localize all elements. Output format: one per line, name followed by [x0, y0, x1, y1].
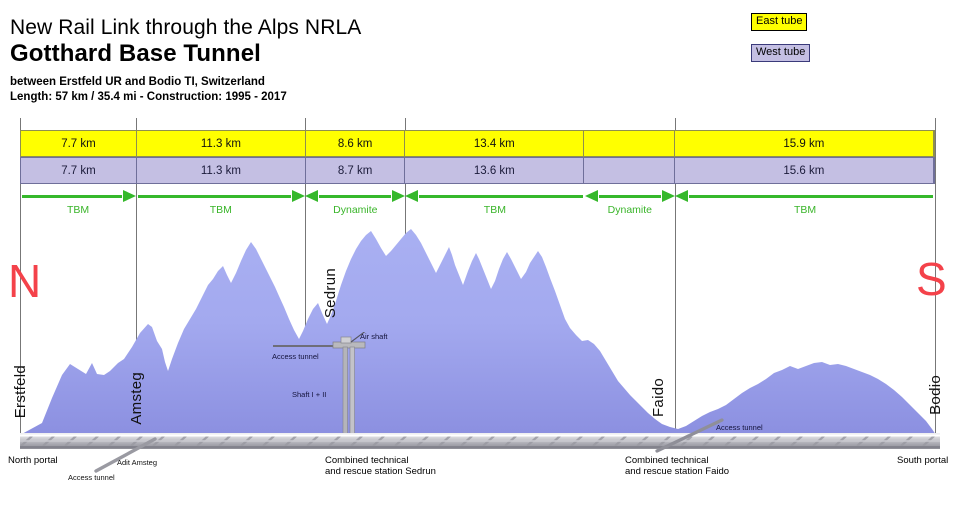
method-segment-2: TBM [136, 185, 305, 223]
north-portal-label: North portal [8, 455, 58, 466]
shaft-ii [350, 347, 355, 435]
method-label-3: Dynamite [305, 204, 405, 216]
direction-arrow-both-icon [305, 189, 405, 203]
page-title: New Rail Link through the Alps NRLA [10, 16, 361, 40]
east-tube-segment-2: 11.3 km [137, 131, 306, 156]
compass-north: N [8, 258, 41, 304]
arrow-shaft [138, 195, 291, 198]
method-segment-5: Dynamite [585, 185, 676, 223]
direction-arrow-left-icon [675, 189, 935, 203]
method-label-4: TBM [405, 204, 584, 216]
east-tube-segment-4: 13.4 km [405, 131, 584, 156]
page-subtitle: Gotthard Base Tunnel [10, 40, 261, 68]
air-shaft-label: Air shaft [360, 332, 388, 341]
arrowhead-left-icon [675, 190, 688, 202]
compass-south: S [916, 256, 947, 302]
sedrun-headhouse-top [341, 337, 351, 343]
west-tube-segment-5 [584, 158, 674, 183]
arrowhead-left-icon [305, 190, 318, 202]
arrowhead-left-icon [405, 190, 418, 202]
east-tube-bar: 7.7 km11.3 km8.6 km13.4 km15.9 km [20, 130, 935, 157]
shaft-i-ii-label: Shaft I + II [292, 390, 326, 399]
east-tube-segment-3: 8.6 km [306, 131, 406, 156]
faido-access-tunnel-label: Access tunnel [716, 423, 763, 432]
direction-arrow-left-icon [405, 189, 584, 203]
east-tube-segment-5 [584, 131, 674, 156]
station-faido-line2: and rescue station Faido [625, 466, 729, 477]
arrowhead-right-icon [392, 190, 405, 202]
meta-location: between Erstfeld UR and Bodio TI, Switze… [10, 76, 265, 88]
station-sedrun-line2: and rescue station Sedrun [325, 466, 436, 477]
place-label-bodio: Bodio [927, 375, 944, 415]
diagram-canvas: New Rail Link through the Alps NRLA Gott… [0, 0, 960, 516]
east-tube-segment-1: 7.7 km [21, 131, 137, 156]
place-label-amsteg: Amsteg [128, 372, 145, 425]
station-sedrun-line1: Combined technical [325, 455, 408, 466]
arrowhead-right-icon [123, 190, 136, 202]
west-tube-segment-4: 13.6 km [405, 158, 584, 183]
arrow-shaft [689, 195, 933, 198]
west-tube-bar: 7.7 km11.3 km8.7 km13.6 km15.6 km [20, 157, 935, 184]
mountain-silhouette [20, 229, 936, 437]
excavation-method-row: TBMTBMDynamiteTBMDynamiteTBM [20, 185, 935, 223]
west-tube-segment-2: 11.3 km [137, 158, 306, 183]
west-tube-segment-6: 15.6 km [675, 158, 934, 183]
arrowhead-right-icon [662, 190, 675, 202]
amsteg-access-tunnel-label: Access tunnel [68, 473, 115, 482]
arrowhead-right-icon [292, 190, 305, 202]
method-segment-3: Dynamite [305, 185, 405, 223]
arrow-shaft [22, 195, 122, 198]
adit-amsteg-label: Adit Amsteg [117, 458, 157, 467]
west-tube-segment-1: 7.7 km [21, 158, 137, 183]
place-label-faido: Faido [650, 378, 667, 417]
west-tube-segment-3: 8.7 km [306, 158, 406, 183]
arrow-shaft [319, 195, 391, 198]
station-faido-line1: Combined technical [625, 455, 708, 466]
method-label-6: TBM [675, 204, 935, 216]
direction-arrow-right-icon [136, 189, 305, 203]
east-tube-segment-6: 15.9 km [675, 131, 934, 156]
method-label-1: TBM [20, 204, 136, 216]
method-segment-6: TBM [675, 185, 935, 223]
method-segment-4: TBM [405, 185, 584, 223]
meta-length-construction: Length: 57 km / 35.4 mi - Construction: … [10, 91, 287, 103]
arrowhead-left-icon [585, 190, 598, 202]
faido-access-tunnel-line [657, 420, 722, 451]
arrow-shaft [599, 195, 662, 198]
method-segment-1: TBM [20, 185, 136, 223]
direction-arrow-both-icon [585, 189, 676, 203]
method-label-5: Dynamite [585, 204, 676, 216]
legend-west-tube: West tube [751, 44, 810, 62]
direction-arrow-right-icon [20, 189, 136, 203]
method-label-2: TBM [136, 204, 305, 216]
sedrun-access-tunnel-label: Access tunnel [272, 352, 319, 361]
legend-east-tube: East tube [751, 13, 807, 31]
shaft-i [343, 347, 348, 435]
arrow-shaft [419, 195, 582, 198]
south-portal-label: South portal [897, 455, 948, 466]
place-label-erstfeld: Erstfeld [12, 365, 29, 418]
place-label-sedrun: Sedrun [322, 268, 339, 318]
